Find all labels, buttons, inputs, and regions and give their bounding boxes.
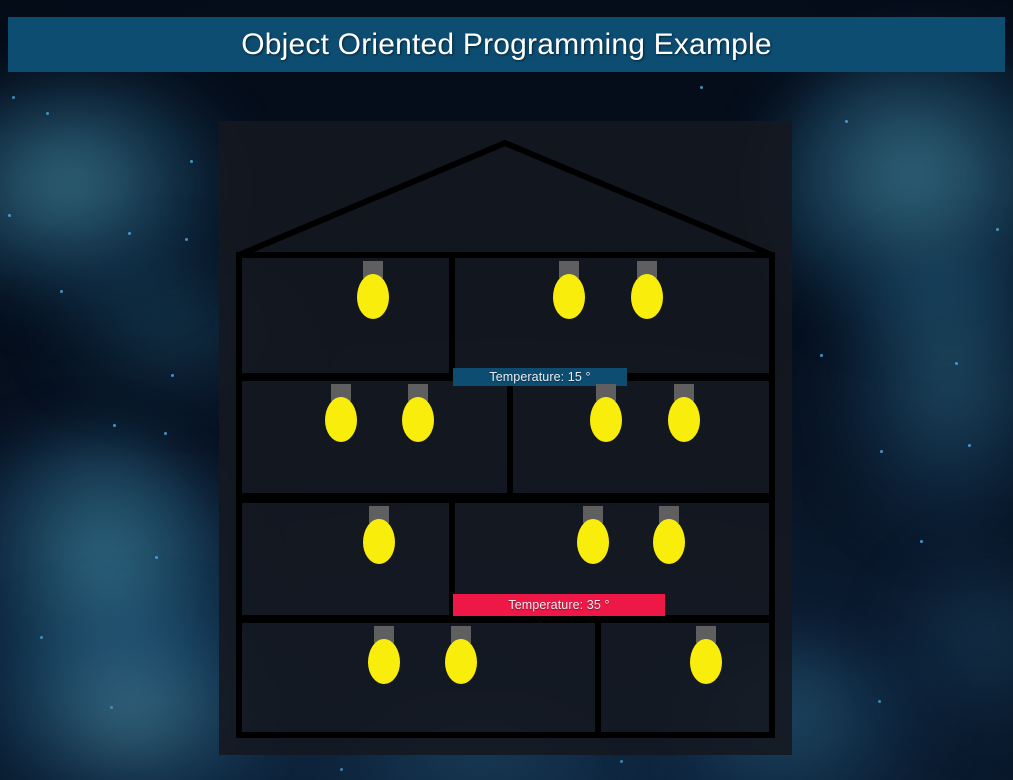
background-spark	[164, 432, 167, 435]
light-bulb-icon[interactable]	[363, 506, 395, 566]
background-spark	[820, 354, 823, 357]
page-title: Object Oriented Programming Example	[241, 28, 772, 62]
room-3[interactable]	[239, 378, 510, 496]
background-spark	[880, 450, 883, 453]
light-bulb-icon[interactable]	[653, 506, 685, 566]
background-spark	[185, 238, 188, 241]
background-spark	[110, 706, 113, 709]
roof	[239, 143, 772, 255]
light-bulb-icon[interactable]	[577, 506, 609, 566]
background-spark	[113, 424, 116, 427]
light-bulb-icon[interactable]	[590, 384, 622, 444]
bulb-glass	[445, 639, 477, 684]
bulb-glass	[325, 397, 357, 442]
background-spark	[40, 636, 43, 639]
light-bulb-icon[interactable]	[631, 261, 663, 321]
title-bar: Object Oriented Programming Example	[8, 17, 1005, 72]
background-spark	[968, 444, 971, 447]
bulb-glass	[653, 519, 685, 564]
bulb-glass	[368, 639, 400, 684]
temperature-label: Temperature: 35 °	[508, 598, 609, 612]
background-spark	[8, 214, 11, 217]
light-bulb-icon[interactable]	[668, 384, 700, 444]
background-spark	[128, 232, 131, 235]
background-spark	[340, 768, 343, 771]
room-2[interactable]: Temperature: 15 °	[452, 255, 772, 376]
room-8[interactable]	[598, 620, 772, 735]
room-6[interactable]: Temperature: 35 °	[452, 500, 772, 618]
background-spark	[996, 228, 999, 231]
bulb-glass	[690, 639, 722, 684]
light-bulb-icon[interactable]	[357, 261, 389, 321]
background-spark	[620, 760, 623, 763]
light-bulb-icon[interactable]	[325, 384, 357, 444]
light-bulb-icon[interactable]	[690, 626, 722, 686]
background-spark	[190, 160, 193, 163]
room-1[interactable]	[239, 255, 452, 376]
bulb-glass	[590, 397, 622, 442]
bulb-glass	[631, 274, 663, 319]
background-spark	[60, 290, 63, 293]
room-5[interactable]	[239, 500, 452, 618]
background-spark	[955, 362, 958, 365]
background-spark	[878, 700, 881, 703]
light-bulb-icon[interactable]	[445, 626, 477, 686]
bulb-glass	[357, 274, 389, 319]
bulb-glass	[553, 274, 585, 319]
room-7[interactable]	[239, 620, 598, 735]
background-spark	[46, 112, 49, 115]
screen: Object Oriented Programming Example Temp…	[0, 0, 1013, 780]
light-bulb-icon[interactable]	[368, 626, 400, 686]
temperature-badge[interactable]: Temperature: 35 °	[453, 594, 665, 616]
bulb-glass	[577, 519, 609, 564]
light-bulb-icon[interactable]	[402, 384, 434, 444]
bulb-glass	[668, 397, 700, 442]
background-spark	[171, 374, 174, 377]
room-4[interactable]	[510, 378, 772, 496]
background-spark	[920, 540, 923, 543]
background-spark	[700, 86, 703, 89]
bulb-glass	[402, 397, 434, 442]
bulb-glass	[363, 519, 395, 564]
light-bulb-icon[interactable]	[553, 261, 585, 321]
house-panel: Temperature: 15 °Temperature: 35 °	[219, 121, 792, 755]
background-spark	[845, 120, 848, 123]
background-spark	[12, 96, 15, 99]
background-spark	[155, 556, 158, 559]
